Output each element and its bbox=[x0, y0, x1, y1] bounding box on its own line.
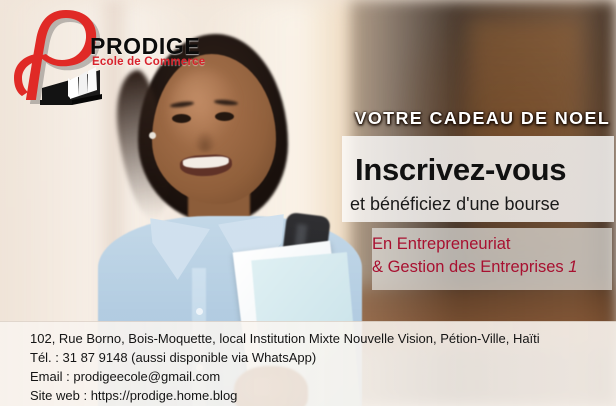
student-nose bbox=[194, 130, 216, 152]
footer-address: 102, Rue Borno, Bois-Moquette, local Ins… bbox=[30, 331, 540, 346]
student-eye-left bbox=[172, 114, 191, 123]
headline-title: Inscrivez-vous bbox=[355, 152, 566, 188]
footer-email[interactable]: Email : prodigeecole@gmail.com bbox=[30, 369, 220, 384]
kicker-text: VOTRE CADEAU DE NOEL bbox=[355, 108, 611, 129]
student-teeth bbox=[183, 156, 230, 169]
footer-website[interactable]: Site web : https://prodige.home.blog bbox=[30, 388, 237, 403]
headline-subtitle: et bénéficiez d'une bourse bbox=[350, 194, 560, 215]
shirt-button-upper bbox=[196, 308, 203, 315]
poster-root: PRODIGE Ecole de Commerce VOTRE CADEAU D… bbox=[0, 0, 616, 406]
program-number: 1 bbox=[568, 258, 577, 276]
program-line-2: & Gestion des Entreprises 1 bbox=[372, 258, 577, 277]
student-earring bbox=[149, 132, 156, 139]
contact-footer: 102, Rue Borno, Bois-Moquette, local Ins… bbox=[0, 321, 616, 406]
footer-phone: Tél. : 31 87 9148 (aussi disponible via … bbox=[30, 350, 316, 365]
program-line-2-text: & Gestion des Entreprises bbox=[372, 258, 564, 276]
student-eye-right bbox=[215, 112, 234, 121]
program-line-1: En Entrepreneuriat bbox=[372, 235, 511, 254]
logo-tagline: Ecole de Commerce bbox=[92, 56, 205, 68]
prodige-logo[interactable]: PRODIGE Ecole de Commerce bbox=[6, 4, 206, 108]
